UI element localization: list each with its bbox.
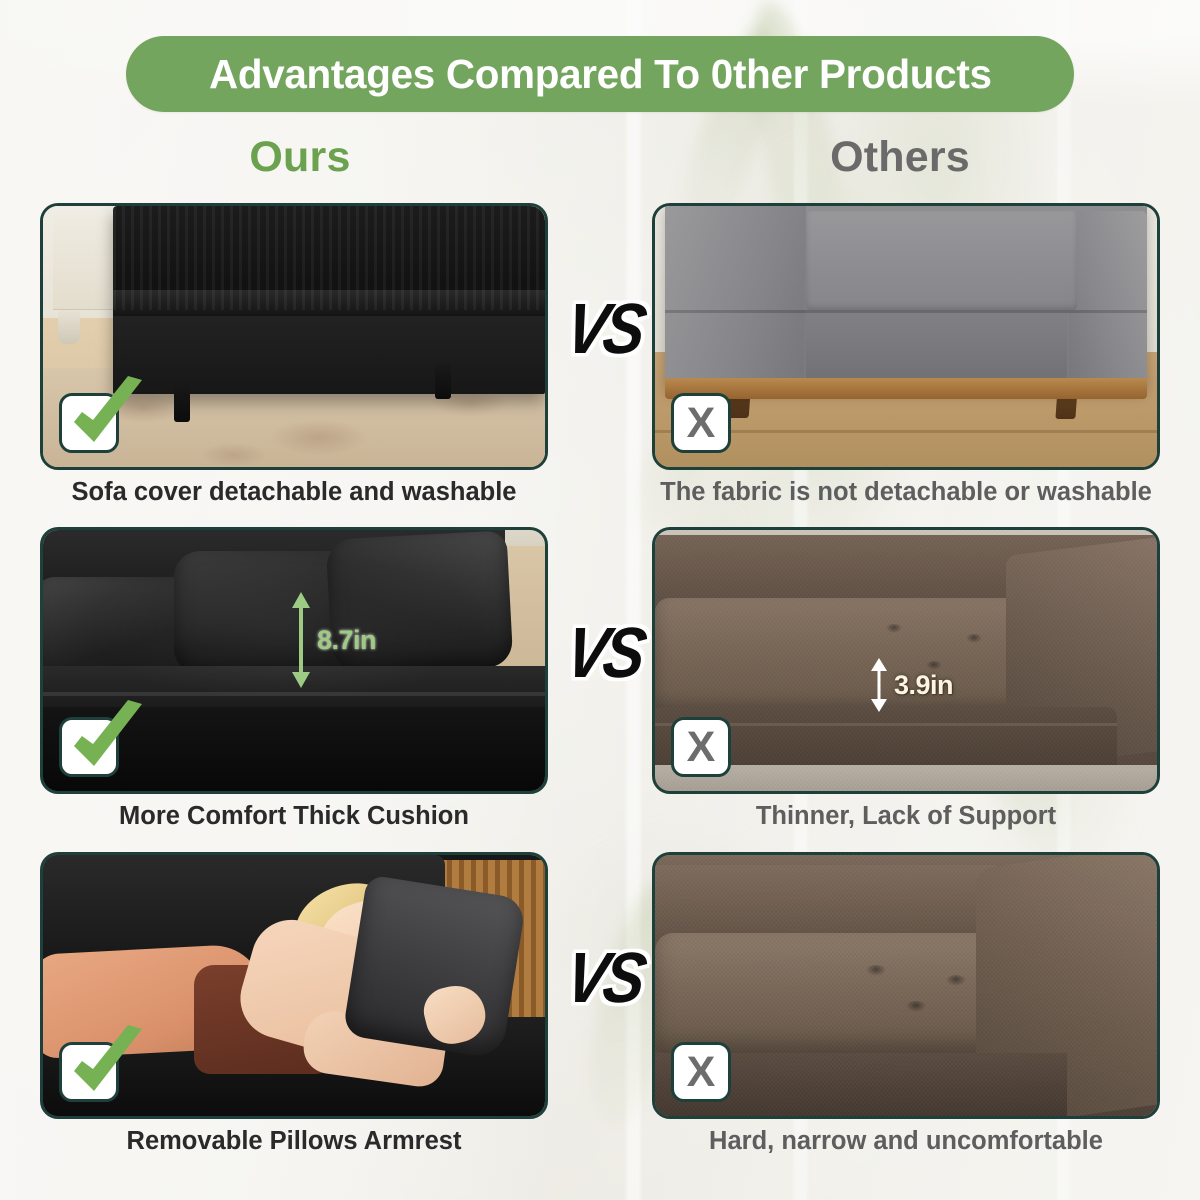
others-thickness-label: 3.9in [894, 670, 953, 701]
x-badge: X [671, 393, 731, 453]
double-arrow-icon [870, 658, 888, 712]
ours-caption-2: More Comfort Thick Cushion [40, 802, 548, 831]
x-badge: X [671, 717, 731, 777]
title-banner: Advantages Compared To 0ther Products [126, 36, 1074, 112]
ours-image-card-2: 8.7in [40, 527, 548, 794]
x-badge: X [671, 1042, 731, 1102]
vs-divider-3: VS [550, 943, 657, 1014]
ours-image-card-1 [40, 203, 548, 470]
others-caption-2: Thinner, Lack of Support [652, 802, 1160, 831]
comparison-infographic: Advantages Compared To 0ther Products Ou… [0, 0, 1200, 1200]
column-header-others: Others [600, 133, 1200, 182]
ours-thickness-label: 8.7in [317, 625, 376, 656]
column-header-ours: Ours [0, 133, 600, 182]
ours-image-card-3 [40, 852, 548, 1119]
check-badge [59, 717, 119, 777]
others-caption-1: The fabric is not detachable or washable [652, 478, 1160, 507]
x-icon: X [674, 396, 728, 450]
ours-caption-1: Sofa cover detachable and washable [40, 478, 548, 507]
others-image-card-1: X [652, 203, 1160, 470]
page-title: Advantages Compared To 0ther Products [209, 51, 992, 98]
vs-divider-1: VS [550, 294, 657, 365]
others-thickness-annotation: 3.9in [870, 658, 953, 712]
others-caption-3: Hard, narrow and uncomfortable [652, 1127, 1160, 1156]
ours-thickness-annotation: 8.7in [291, 592, 376, 688]
vs-divider-2: VS [550, 618, 657, 689]
others-image-card-2: 3.9in X [652, 527, 1160, 794]
check-badge [59, 1042, 119, 1102]
check-badge [59, 393, 119, 453]
ours-caption-3: Removable Pillows Armrest [40, 1127, 548, 1156]
double-arrow-icon [291, 592, 311, 688]
others-image-card-3: X [652, 852, 1160, 1119]
x-icon: X [674, 720, 728, 774]
x-icon: X [674, 1045, 728, 1099]
